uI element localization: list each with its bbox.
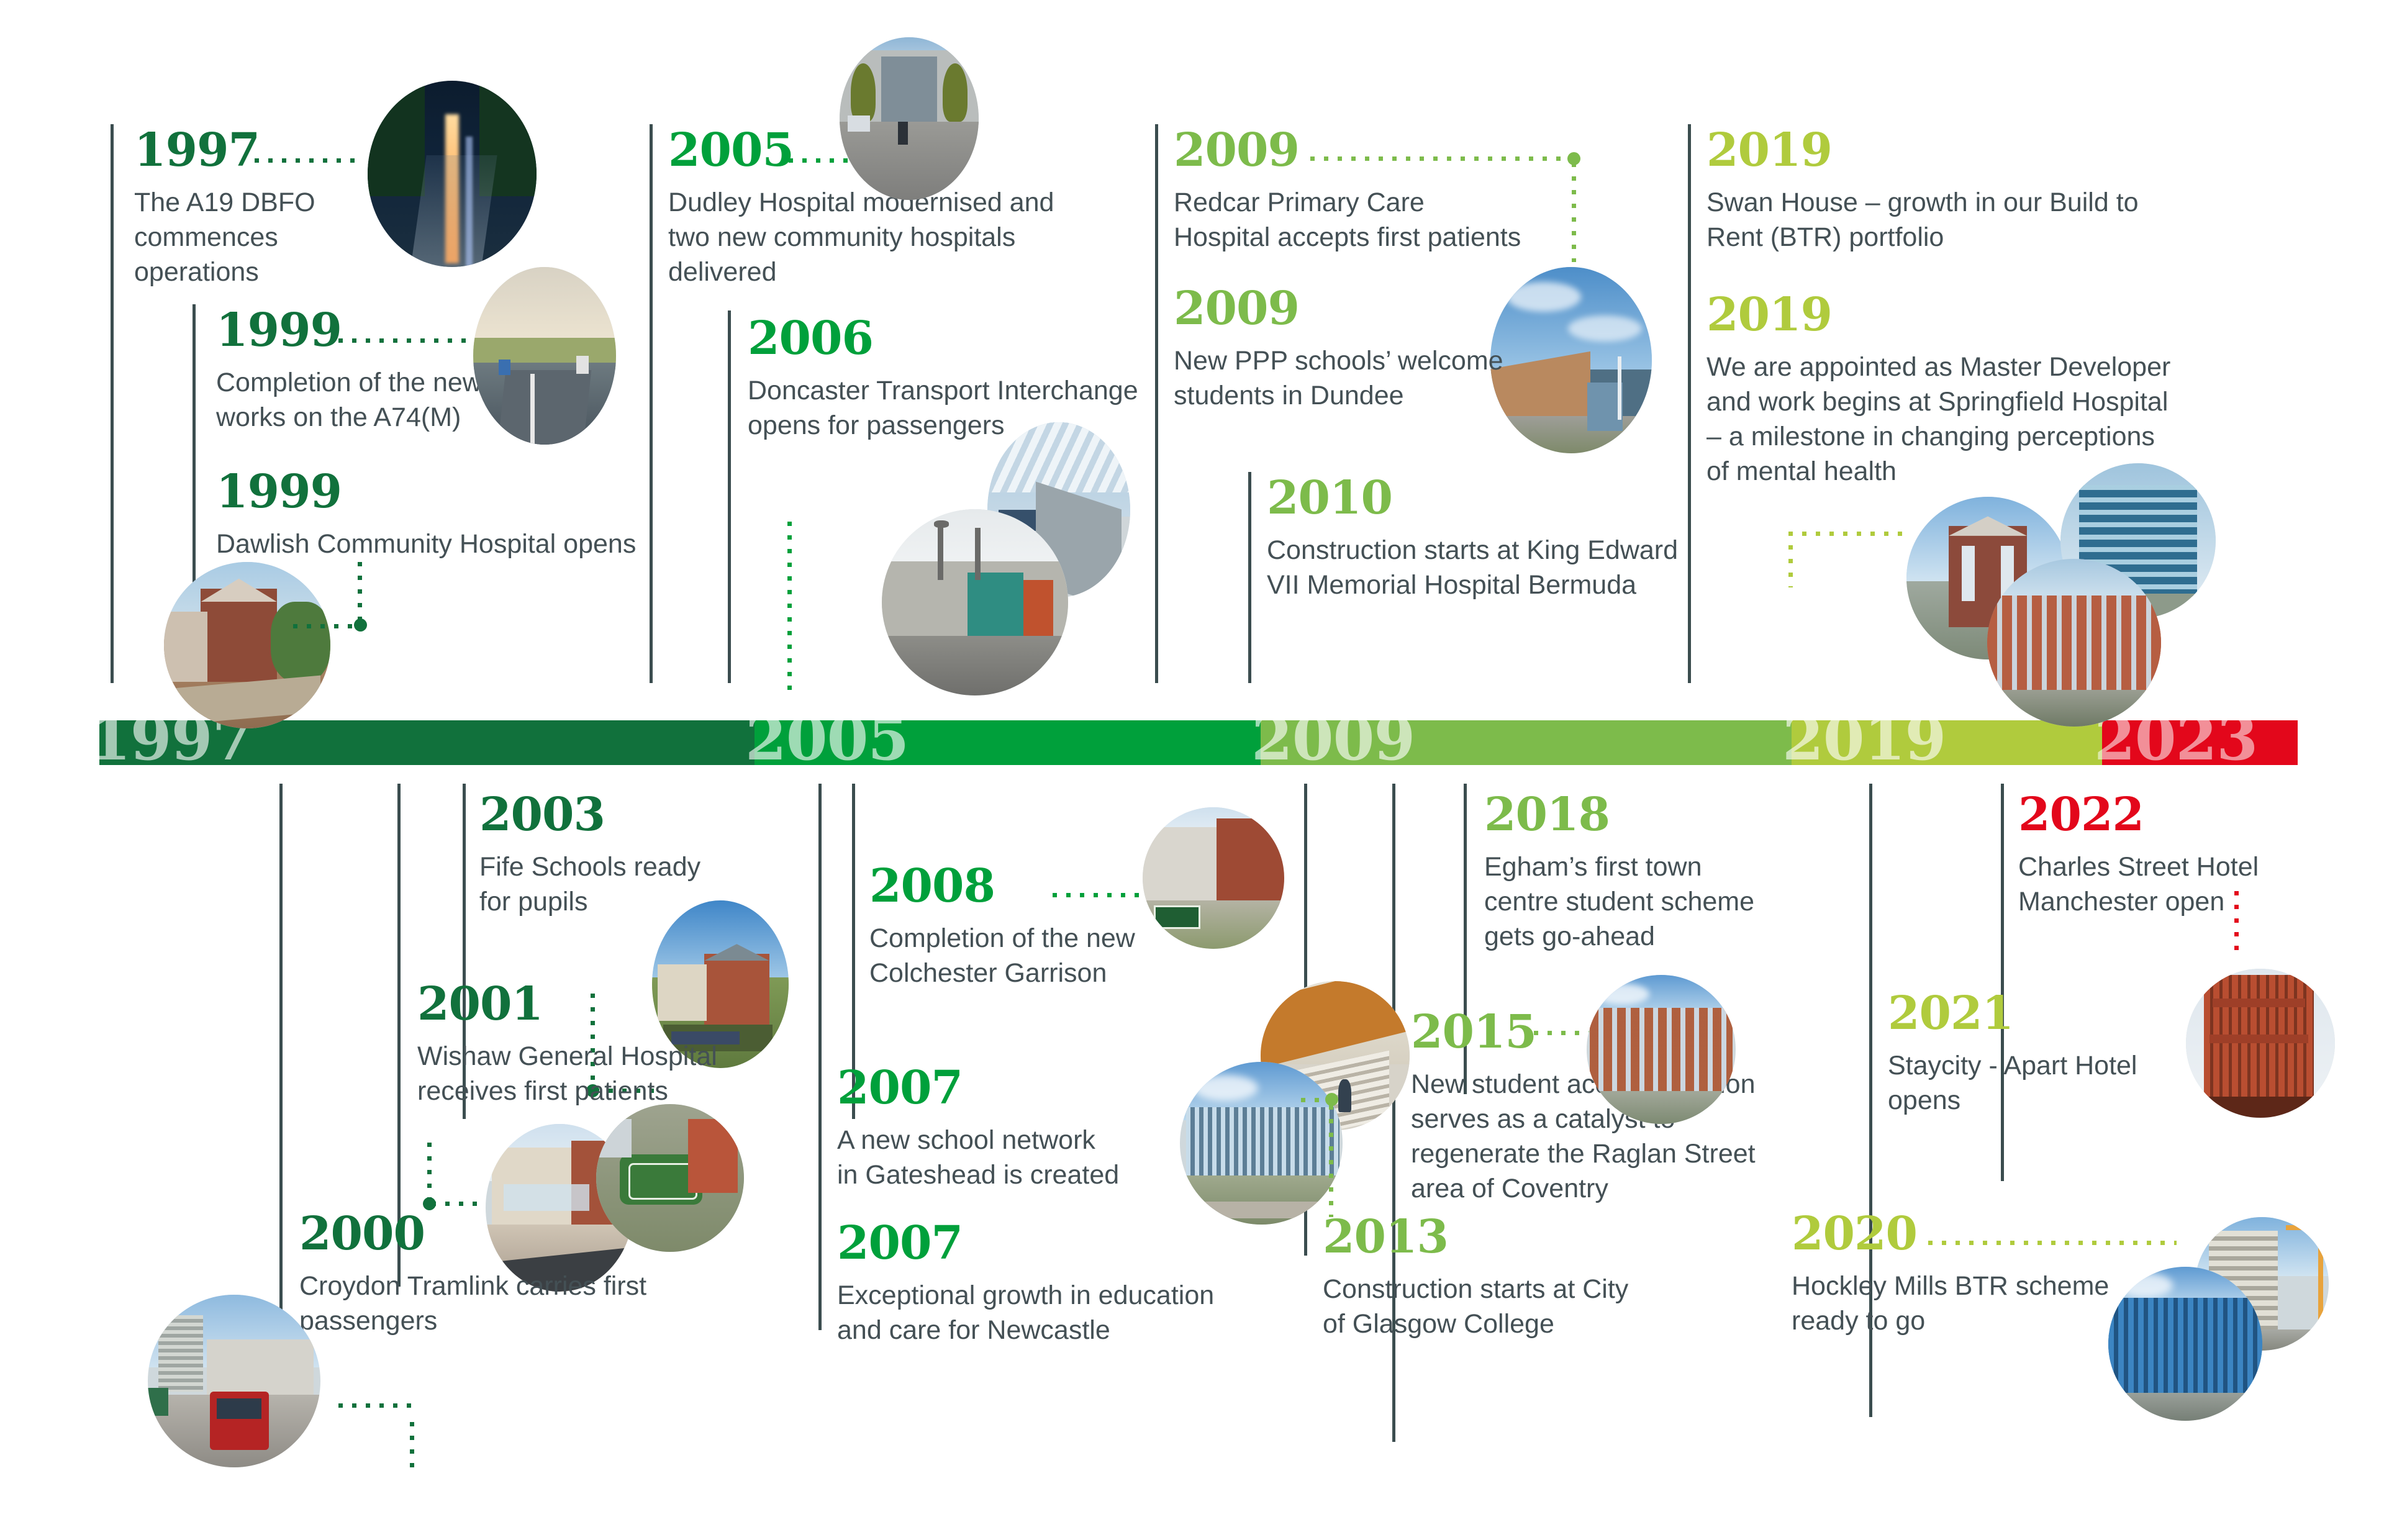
entry-2022: 2022 Charles Street Hotel Manchester ope… (2018, 792, 2304, 920)
connector-2000-v (410, 1422, 414, 1469)
entry-text: Hockley Mills BTR scheme ready to go (1792, 1269, 2114, 1339)
entry-text: Completion of the new Colchester Garriso… (869, 922, 1149, 991)
entry-year: 2000 (299, 1211, 647, 1257)
egham-student-scheme-photo (1587, 975, 1736, 1124)
a19-motorway-night-photo (368, 81, 537, 267)
a74m-motorway-photo (473, 267, 616, 445)
croydon-tramlink-photo (148, 1295, 320, 1467)
dawlish-community-hospital-photo (164, 562, 330, 728)
bar-segment-3 (1261, 720, 1792, 765)
entry-text: Completion of the new works on the A74(M… (216, 366, 489, 435)
entry-text: The A19 DBFO commences operations (134, 186, 383, 290)
entry-year: 1997 (134, 127, 383, 173)
entry-text: Dawlish Community Hospital opens (216, 527, 651, 562)
entry-year: 2019 (1706, 127, 2154, 173)
entry-2007-newcastle: 2007 Exceptional growth in education and… (837, 1220, 1222, 1348)
entry-2019-swanhouse: 2019 Swan House – growth in our Build to… (1706, 127, 2154, 255)
entry-2010: 2010 Construction starts at King Edward … (1267, 475, 1689, 603)
entry-text: Dudley Hospital modernised and two new c… (668, 186, 1103, 290)
entry-2019-springfield: 2019 We are appointed as Master Develope… (1706, 292, 2178, 489)
entry-text: Staycity - Apart Hotel opens (1888, 1049, 2149, 1118)
springfield-hospital-photo-c (1987, 559, 2161, 727)
entry-2009-redcar: 2009 Redcar Primary Care Hospital accept… (1174, 127, 1521, 255)
entry-2007-gateshead: 2007 A new school network in Gateshead i… (837, 1065, 1123, 1193)
connector-2009-h (1310, 156, 1571, 161)
entry-text: Swan House – growth in our Build to Rent… (1706, 186, 2154, 255)
connector-2001-node (423, 1197, 436, 1210)
entry-text: Redcar Primary Care Hospital accepts fir… (1174, 186, 1521, 255)
rule-below-2007 (818, 784, 822, 1330)
entry-year: 2018 (1484, 792, 1770, 838)
entry-2009-dundee: 2009 New PPP schools’ welcome students i… (1174, 286, 1509, 414)
entry-text: Exceptional growth in education and care… (837, 1279, 1222, 1348)
entry-text: Construction starts at King Edward VII M… (1267, 533, 1689, 603)
entry-1999-dawlish: 1999 Dawlish Community Hospital opens (216, 469, 651, 562)
entry-text: Wishaw General Hospital receives first p… (417, 1039, 765, 1109)
entry-text: Construction starts at City of Glasgow C… (1323, 1272, 1646, 1342)
connector-1997 (255, 158, 360, 163)
bar-segment-5 (2102, 720, 2298, 765)
connector-2020 (1928, 1241, 2177, 1245)
entry-year: 2003 (479, 792, 728, 838)
entry-year: 2009 (1174, 286, 1509, 332)
timeline-infographic: 1997 2005 2009 2019 2023 1997 The A19 DB… (0, 0, 2384, 1540)
connector-2019-v (1788, 532, 1793, 587)
redcar-primary-care-hospital-photo (1490, 267, 1652, 453)
entry-year: 1999 (216, 307, 489, 353)
connector-2001-h (432, 1202, 487, 1206)
entry-year: 2010 (1267, 475, 1689, 521)
entry-text: New PPP schools’ welcome students in Dun… (1174, 344, 1509, 414)
doncaster-interchange-exterior-photo (882, 509, 1068, 695)
entry-2013: 2013 Construction starts at City of Glas… (1323, 1214, 1646, 1342)
entry-text: Charles Street Hotel Manchester open (2018, 850, 2304, 920)
entry-year: 2021 (1888, 990, 2149, 1036)
colchester-garrison-photo (1143, 807, 1284, 949)
entry-2021: 2021 Staycity - Apart Hotel opens (1888, 990, 2149, 1118)
entry-year: 1999 (216, 469, 651, 515)
entry-text: A new school network in Gateshead is cre… (837, 1123, 1123, 1193)
connector-1999-dawlish-node (354, 618, 367, 632)
entry-2020: 2020 Hockley Mills BTR scheme ready to g… (1792, 1211, 2114, 1339)
entry-year: 2019 (1706, 292, 2178, 338)
connector-1999-dawlish-h (293, 624, 360, 628)
entry-year: 2008 (869, 863, 1149, 909)
entry-year: 2022 (2018, 792, 2304, 838)
entry-year: 2007 (837, 1220, 1222, 1266)
entry-year: 2020 (1792, 1211, 2114, 1257)
entry-2018: 2018 Egham’s first town centre student s… (1484, 792, 1770, 954)
entry-2001: 2001 Wishaw General Hospital receives fi… (417, 981, 765, 1109)
connector-2006 (787, 522, 792, 695)
hockley-mills-facade-photo (2108, 1267, 2262, 1421)
connector-2009-v (1572, 163, 1576, 262)
bar-segment-2 (755, 720, 1261, 765)
entry-year: 2007 (837, 1065, 1123, 1111)
entry-1999-a74m: 1999 Completion of the new works on the … (216, 307, 489, 435)
entry-1997: 1997 The A19 DBFO commences operations (134, 127, 383, 290)
bar-segment-4 (1792, 720, 2102, 765)
connector-2000-h (338, 1403, 413, 1408)
entry-year: 2001 (417, 981, 765, 1027)
connector-2019-h (1788, 532, 1906, 536)
connector-2022-v (2234, 891, 2239, 959)
entry-text: Croydon Tramlink carries first passenger… (299, 1269, 647, 1339)
rule-above-2005 (650, 124, 653, 683)
rule-above-1997 (111, 124, 114, 683)
connector-2013-v (1329, 1105, 1333, 1217)
timeline-bar: 1997 2005 2009 2019 2023 (99, 720, 2298, 765)
connector-2015 (1534, 1031, 1596, 1035)
entry-2000: 2000 Croydon Tramlink carries first pass… (299, 1211, 647, 1339)
connector-2013-node (1325, 1093, 1338, 1106)
rule-above-2010 (1248, 472, 1251, 683)
entry-year: 2006 (748, 315, 1170, 361)
connector-1999-a74m (338, 338, 466, 343)
rule-above-2006 (728, 310, 731, 683)
rule-below-2022 (2001, 784, 2004, 1181)
entry-text: Egham’s first town centre student scheme… (1484, 850, 1770, 954)
rule-below-2000 (279, 784, 283, 1380)
entry-year: 2009 (1174, 127, 1521, 173)
dudley-hospital-photo (840, 37, 979, 200)
entry-year: 2013 (1323, 1214, 1646, 1260)
gateshead-school-exterior-photo (1180, 1062, 1343, 1225)
entry-2008: 2008 Completion of the new Colchester Ga… (869, 863, 1149, 991)
charles-street-hotel-photo (2186, 969, 2335, 1118)
